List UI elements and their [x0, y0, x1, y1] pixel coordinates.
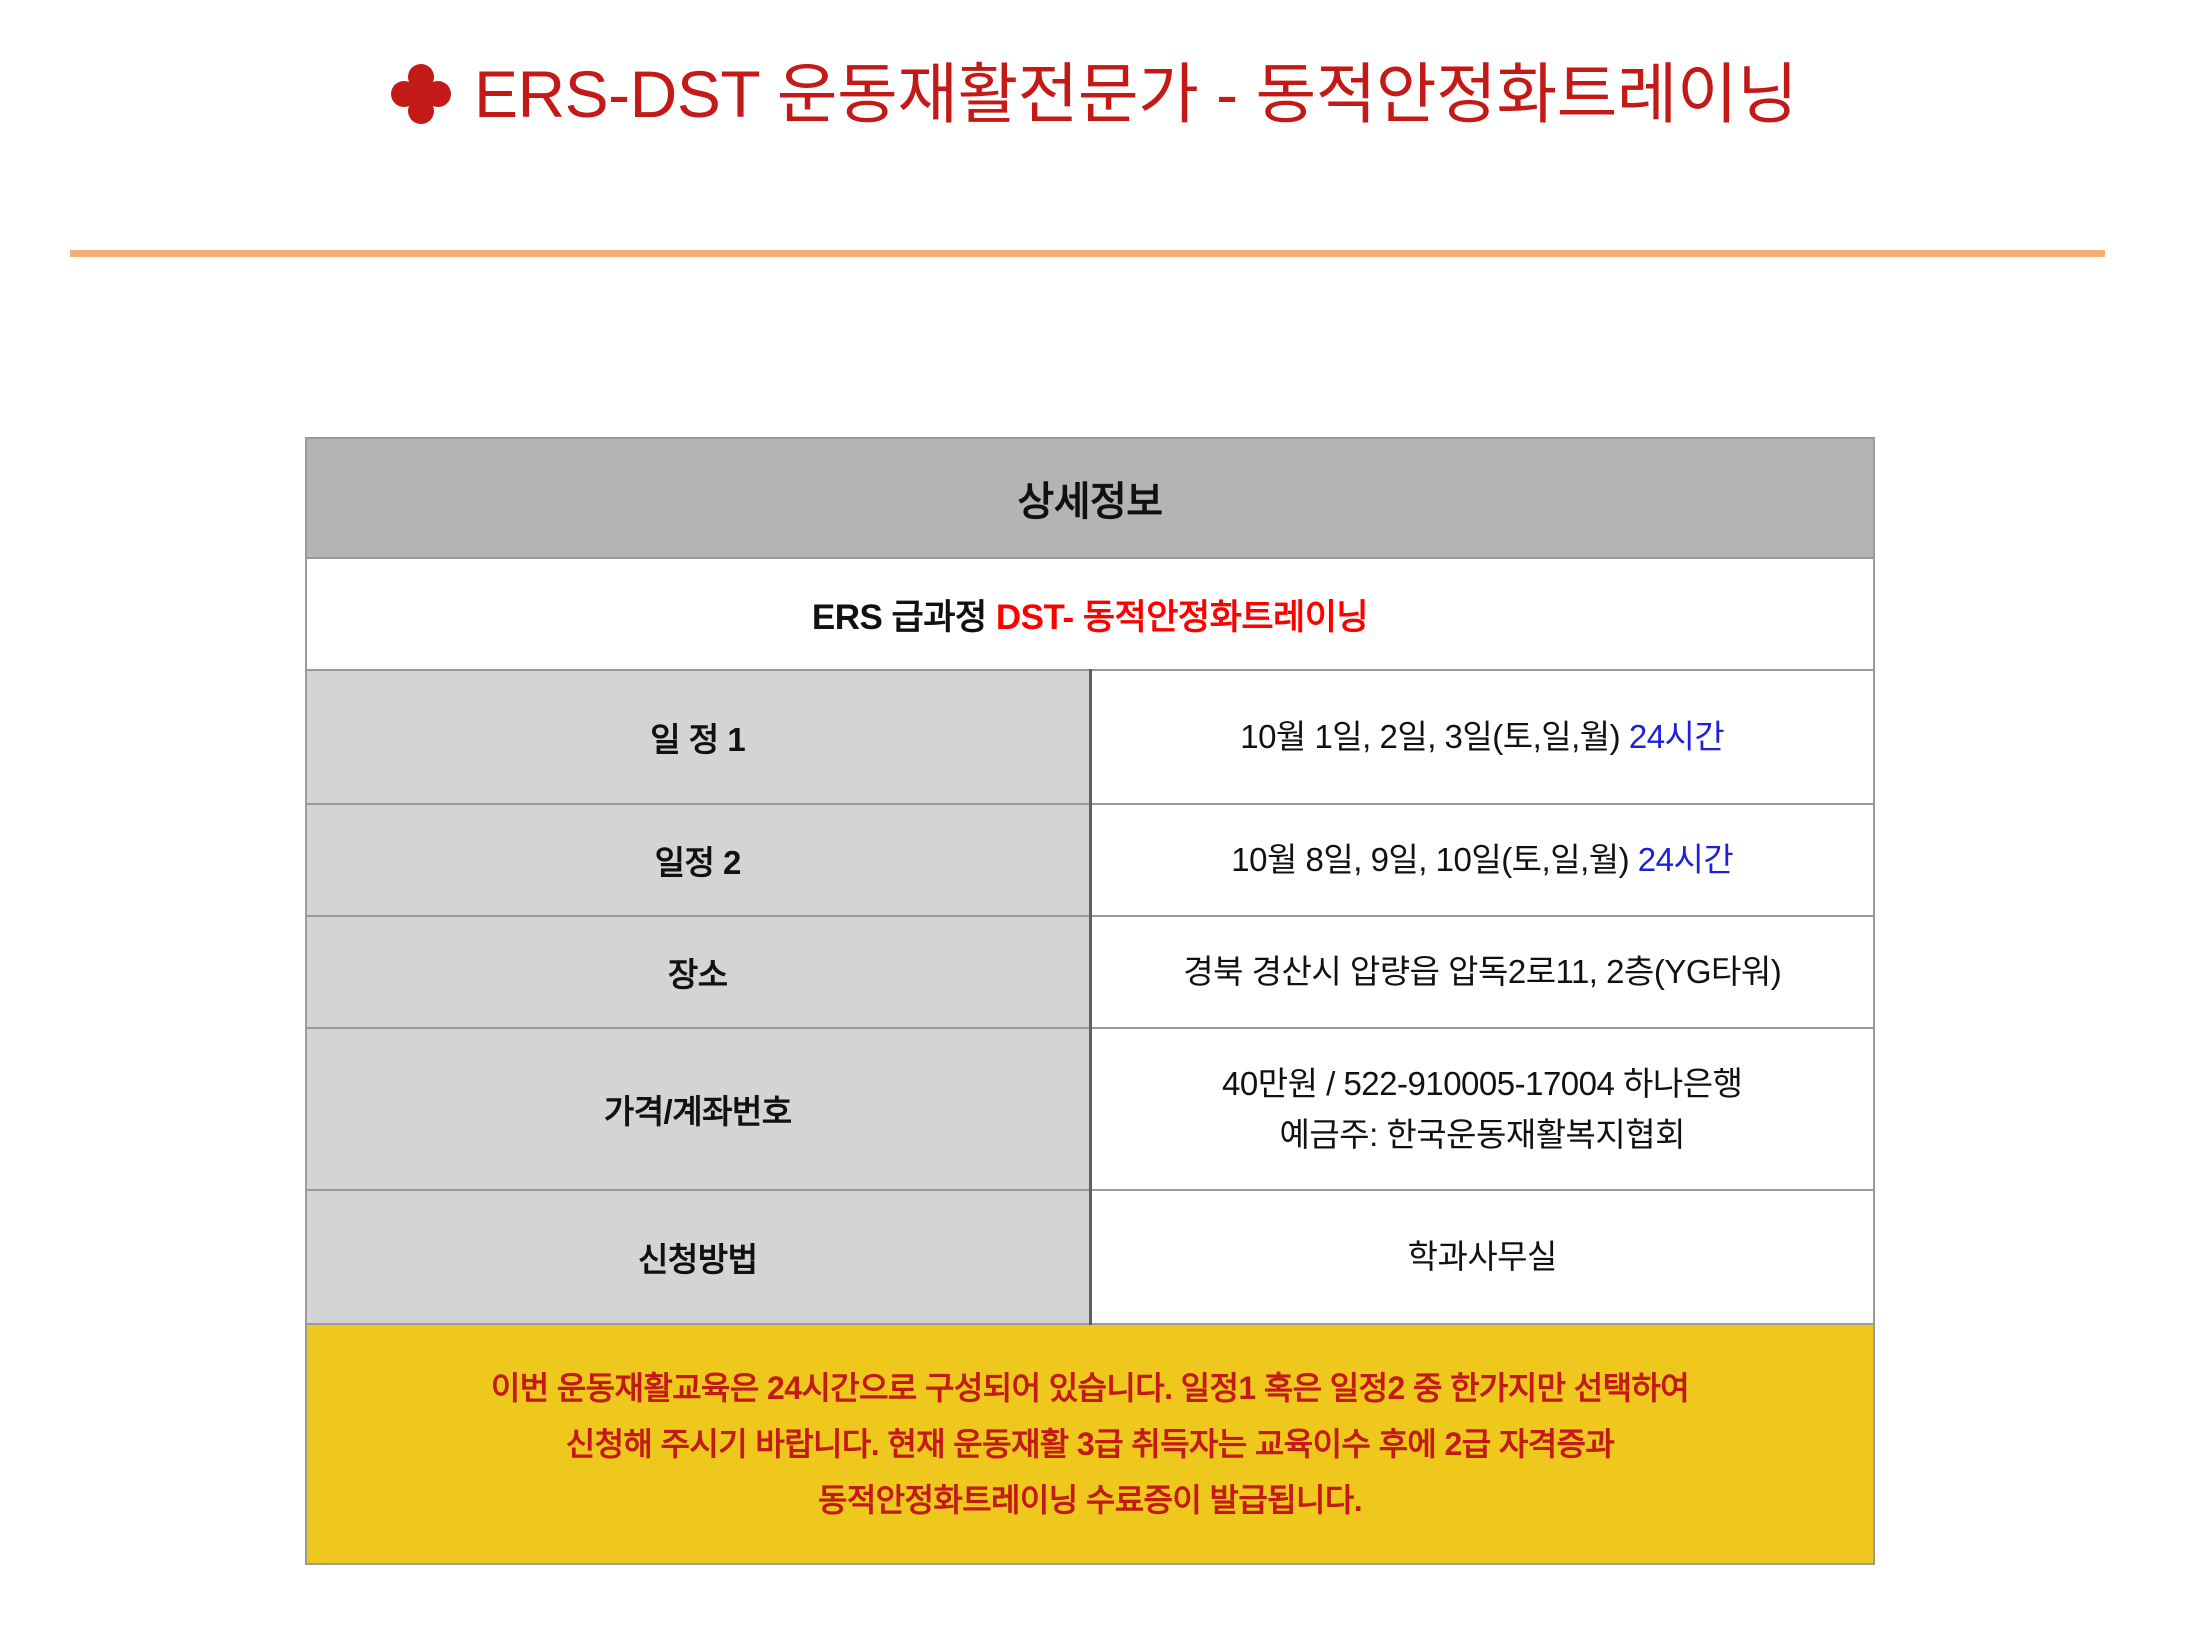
row-value-location: 경북 경산시 압량읍 압독2로11, 2층(YG타워) [1090, 916, 1874, 1028]
row-value-text: 10월 1일, 2일, 3일(토,일,월) 24시간 [1240, 718, 1724, 755]
course-name-accent: DST- 동적안정화트레이닝 [996, 598, 1368, 637]
course-name: ERS 급과정 DST- 동적안정화트레이닝 [812, 598, 1368, 637]
note-line-1: 이번 운동재활교육은 24시간으로 구성되어 있습니다. 일정1 혹은 일정2 … [307, 1360, 1873, 1416]
price-account-line-1: 40만원 / 522-910005-17004 하나은행 [1092, 1058, 1874, 1109]
note-line-3: 동적안정화트레이닝 수료증이 발급됩니다. [307, 1472, 1873, 1528]
note-line-2: 신청해 주시기 바랍니다. 현재 운동재활 3급 취득자는 교육이수 후에 2급… [307, 1416, 1873, 1472]
table-row: 일정 2 10월 8일, 9일, 10일(토,일,월) 24시간 [306, 804, 1874, 916]
floret-icon [390, 63, 452, 125]
table-row: 신청방법 학과사무실 [306, 1190, 1874, 1324]
table-subtitle-cell: ERS 급과정 DST- 동적안정화트레이닝 [306, 558, 1874, 670]
table-header-row: 상세정보 [306, 438, 1874, 558]
page-title: ERS-DST 운동재활전문가 - 동적안정화트레이닝 [0, 60, 2187, 129]
row-label-schedule-2: 일정 2 [306, 804, 1090, 916]
table-subtitle-row: ERS 급과정 DST- 동적안정화트레이닝 [306, 558, 1874, 670]
table-row: 가격/계좌번호 40만원 / 522-910005-17004 하나은행 예금주… [306, 1028, 1874, 1190]
row-value-text: 학과사무실 [1408, 1238, 1557, 1275]
row-value-text: 경북 경산시 압량읍 압독2로11, 2층(YG타워) [1183, 953, 1781, 990]
title-divider [70, 250, 2105, 257]
page-title-text: ERS-DST 운동재활전문가 - 동적안정화트레이닝 [474, 60, 1798, 129]
price-account-line-2: 예금주: 한국운동재활복지협회 [1092, 1109, 1874, 1160]
row-label-price-account: 가격/계좌번호 [306, 1028, 1090, 1190]
row-value-text: 10월 8일, 9일, 10일(토,일,월) 24시간 [1231, 841, 1733, 878]
note-cell: 이번 운동재활교육은 24시간으로 구성되어 있습니다. 일정1 혹은 일정2 … [306, 1324, 1874, 1564]
row-label-text: 신청방법 [638, 1241, 757, 1278]
schedule-1-dates: 10월 1일, 2일, 3일(토,일,월) [1240, 718, 1629, 755]
row-label-schedule-1: 일 정 1 [306, 670, 1090, 804]
row-value-schedule-2: 10월 8일, 9일, 10일(토,일,월) 24시간 [1090, 804, 1874, 916]
row-value-price-account: 40만원 / 522-910005-17004 하나은행 예금주: 한국운동재활… [1090, 1028, 1874, 1190]
row-value-apply-method: 학과사무실 [1090, 1190, 1874, 1324]
table-header-label: 상세정보 [1017, 480, 1162, 524]
table-row: 일 정 1 10월 1일, 2일, 3일(토,일,월) 24시간 [306, 670, 1874, 804]
row-label-text: 가격/계좌번호 [604, 1093, 792, 1130]
schedule-2-hours: 24시간 [1638, 841, 1733, 878]
table-row: 장소 경북 경산시 압량읍 압독2로11, 2층(YG타워) [306, 916, 1874, 1028]
row-label-apply-method: 신청방법 [306, 1190, 1090, 1324]
row-value-schedule-1: 10월 1일, 2일, 3일(토,일,월) 24시간 [1090, 670, 1874, 804]
row-label-text: 일 정 1 [650, 721, 745, 758]
row-label-text: 일정 2 [655, 844, 741, 881]
row-label-text: 장소 [668, 956, 728, 993]
schedule-1-hours: 24시간 [1629, 718, 1724, 755]
row-label-location: 장소 [306, 916, 1090, 1028]
table-header-cell: 상세정보 [306, 438, 1874, 558]
course-details-table: 상세정보 ERS 급과정 DST- 동적안정화트레이닝 일 정 1 10월 1일… [305, 437, 1875, 1565]
course-name-prefix: ERS 급과정 [812, 598, 996, 637]
schedule-2-dates: 10월 8일, 9일, 10일(토,일,월) [1231, 841, 1637, 878]
table-note-row: 이번 운동재활교육은 24시간으로 구성되어 있습니다. 일정1 혹은 일정2 … [306, 1324, 1874, 1564]
